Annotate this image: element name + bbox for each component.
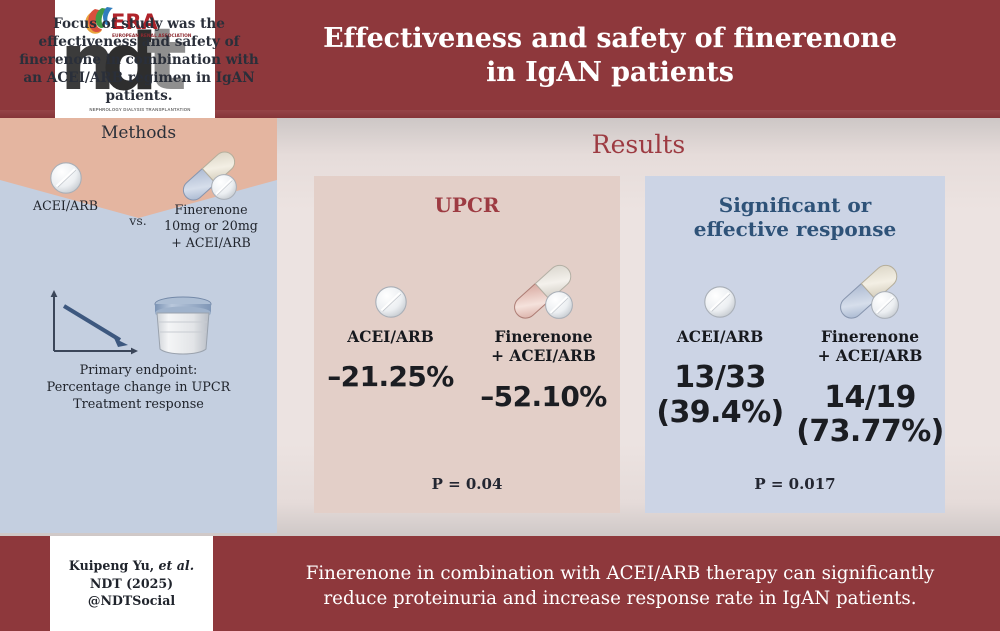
citation-box: Kuipeng Yu, et al. NDT (2025) @NDTSocial	[50, 536, 213, 631]
results-heading: Results	[277, 130, 1000, 159]
upcr-intervention-label: Finerenone + ACEI/ARB	[467, 328, 620, 367]
tablet-icon	[314, 260, 467, 322]
upcr-comparator-label: ACEI/ARB	[314, 328, 467, 347]
value-line-1: –21.25%	[314, 361, 467, 393]
intervention-line-3: + ACEI/ARB	[155, 235, 267, 251]
methods-comparator-label: ACEI/ARB	[18, 198, 113, 214]
upcr-intervention-column: Finerenone + ACEI/ARB –52.10%	[467, 260, 620, 413]
page-title-line-1: Effectiveness and safety of finerenone	[240, 22, 980, 56]
citation-author: Kuipeng Yu,	[69, 558, 154, 573]
response-intervention-label: Finerenone + ACEI/ARB	[795, 328, 945, 367]
methods-intervention-label: Finerenone 10mg or 20mg + ACEI/ARB	[155, 202, 267, 251]
capsule-tablet-icon	[795, 260, 945, 322]
study-focus-text: Focus of study was the effectiveness and…	[14, 15, 264, 105]
endpoint-line-3: Treatment response	[6, 396, 271, 413]
label-line-1: ACEI/ARB	[314, 328, 467, 347]
value-line-1: 13/33	[645, 361, 795, 396]
value-line-1: 14/19	[795, 381, 945, 416]
methods-heading: Methods	[0, 123, 277, 143]
value-line-2: (73.77%)	[795, 415, 945, 450]
methods-comparator-arm: ACEI/ARB	[18, 158, 113, 214]
infographic-poster: n d t ERA EUROPEAN RENAL ASSOCIATION NEP…	[0, 0, 1000, 631]
value-line-2: (39.4%)	[645, 396, 795, 431]
capsule-tablet-icon	[155, 150, 267, 202]
panel-title-response-line-1: Significant or	[645, 193, 945, 217]
intervention-line-2: 10mg or 20mg	[155, 218, 267, 234]
upcr-comparator-value: –21.25%	[314, 361, 467, 393]
value-line-1: –52.10%	[467, 381, 620, 413]
endpoint-line-1: Primary endpoint:	[6, 362, 271, 379]
panel-title-upcr-line-1: UPCR	[314, 193, 620, 217]
response-comparator-value: 13/33 (39.4%)	[645, 361, 795, 431]
citation: Kuipeng Yu, et al. NDT (2025) @NDTSocial	[69, 557, 194, 611]
urine-sample-cup-icon	[155, 297, 211, 354]
logo-tagline: NEPHROLOGY DIALYSIS TRANSPLANTATION	[80, 107, 200, 112]
label-line-2: + ACEI/ARB	[795, 347, 945, 366]
capsule-tablet-icon	[467, 260, 620, 322]
upcr-intervention-value: –52.10%	[467, 381, 620, 413]
methods-intervention-arm: Finerenone 10mg or 20mg + ACEI/ARB	[155, 150, 267, 251]
citation-journal: NDT (2025)	[90, 576, 173, 591]
response-comparator-label: ACEI/ARB	[645, 328, 795, 347]
primary-endpoint-text: Primary endpoint: Percentage change in U…	[6, 362, 271, 413]
response-comparator-column: ACEI/ARB 13/33 (39.4%)	[645, 260, 795, 431]
citation-handle: @NDTSocial	[88, 593, 175, 608]
conclusion-line-2: reduce proteinuria and increase response…	[250, 587, 990, 612]
declining-trend-icon	[51, 290, 138, 354]
upcr-pvalue: P = 0.04	[314, 475, 620, 493]
endpoint-icon-group	[40, 288, 240, 360]
panel-title-response: Significant or effective response	[645, 193, 945, 241]
page-title-line-2: in IgAN patients	[240, 56, 980, 90]
endpoint-line-2: Percentage change in UPCR	[6, 379, 271, 396]
conclusion-line-1: Finerenone in combination with ACEI/ARB …	[250, 562, 990, 587]
label-line-1: Finerenone	[795, 328, 945, 347]
tablet-icon	[18, 158, 113, 198]
label-line-1: ACEI/ARB	[645, 328, 795, 347]
results-panel-response: Significant or effective response ACEI/A…	[645, 176, 945, 513]
results-panel-upcr: UPCR ACEI/ARB –21.25%	[314, 176, 620, 513]
response-intervention-column: Finerenone + ACEI/ARB 14/19 (73.77%)	[795, 260, 945, 450]
panel-title-response-line-2: effective response	[645, 217, 945, 241]
citation-etal: et al.	[159, 558, 195, 573]
conclusion-text: Finerenone in combination with ACEI/ARB …	[250, 562, 990, 612]
response-pvalue: P = 0.017	[645, 475, 945, 493]
panel-title-upcr: UPCR	[314, 193, 620, 217]
label-line-2: + ACEI/ARB	[467, 347, 620, 366]
tablet-icon	[645, 260, 795, 322]
upcr-comparator-column: ACEI/ARB –21.25%	[314, 260, 467, 394]
page-title: Effectiveness and safety of finerenone i…	[240, 22, 980, 90]
label-line-1: Finerenone	[467, 328, 620, 347]
response-intervention-value: 14/19 (73.77%)	[795, 381, 945, 451]
intervention-line-1: Finerenone	[155, 202, 267, 218]
